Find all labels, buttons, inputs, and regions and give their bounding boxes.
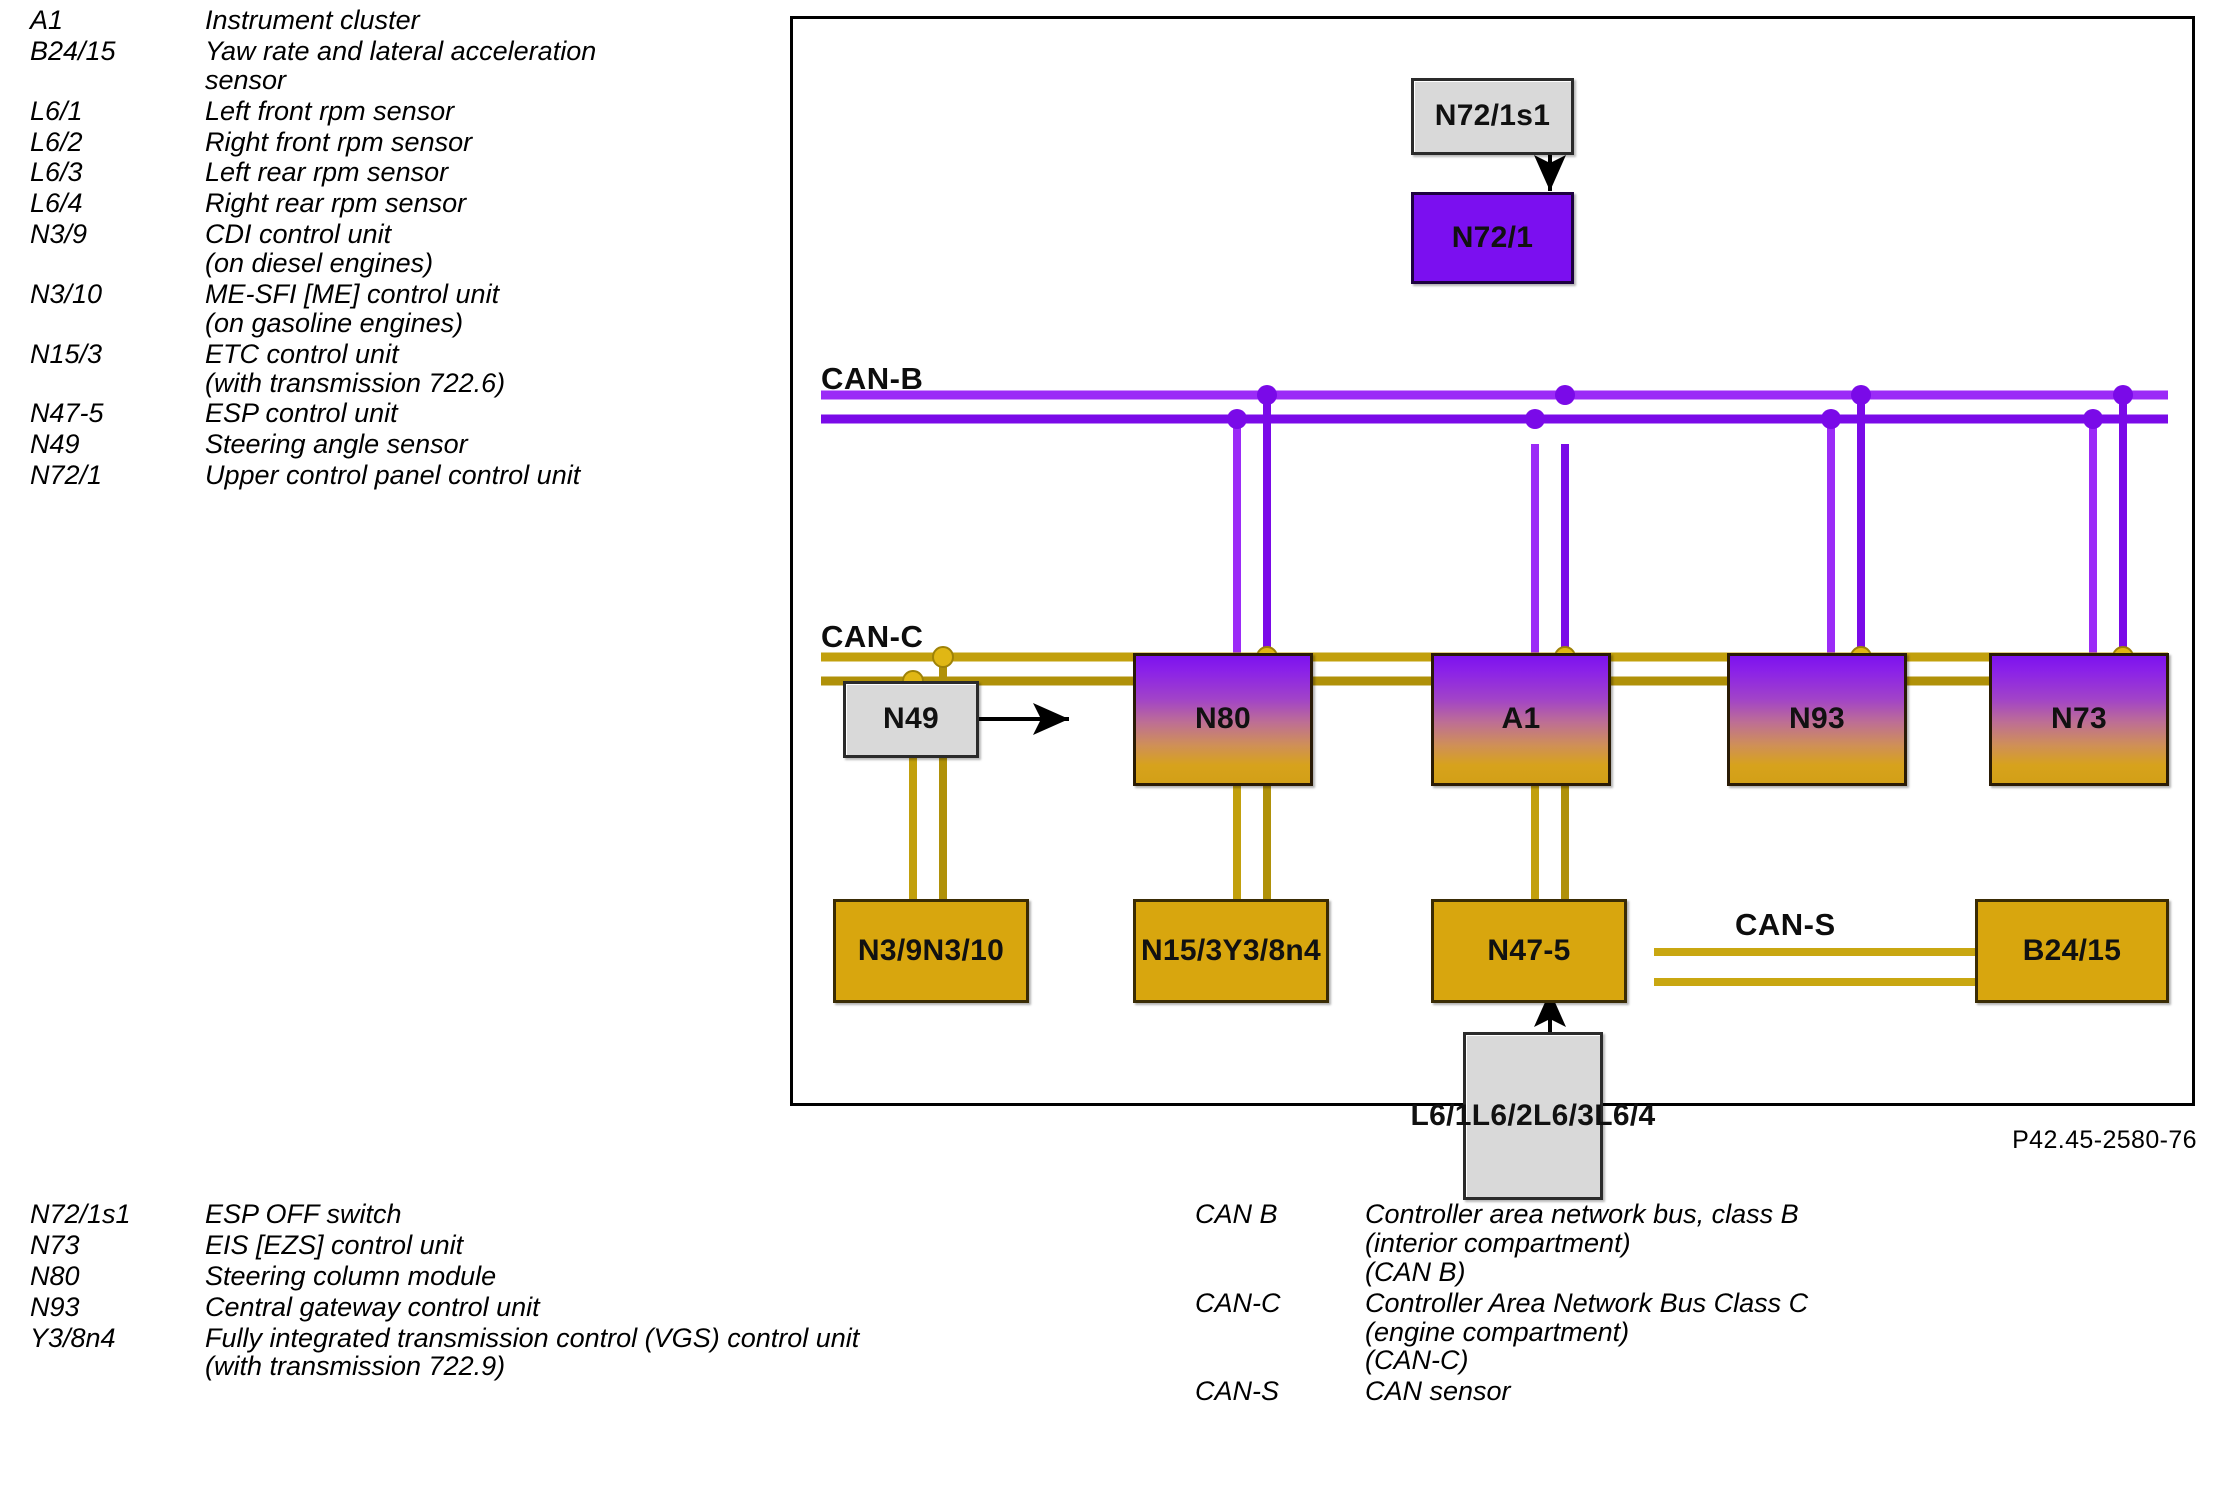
legend-description: Central gateway control unit [205, 1293, 1090, 1322]
bus-label-can-s: CAN-S [1735, 907, 1836, 943]
legend-bottom-right: CAN BController area network bus, class … [1195, 1200, 2215, 1408]
legend-row: CAN-SCAN sensor [1195, 1377, 2215, 1406]
legend-row: L6/4Right rear rpm sensor [30, 189, 750, 218]
legend-key: N49 [30, 430, 205, 459]
legend-row: N72/1Upper control panel control unit [30, 461, 750, 490]
legend-description: EIS [EZS] control unit [205, 1231, 1090, 1260]
legend-key: N47-5 [30, 399, 205, 428]
legend-key: N72/1 [30, 461, 205, 490]
bus-label-can-c: CAN-C [821, 619, 923, 655]
legend-row: L6/1Left front rpm sensor [30, 97, 750, 126]
legend-row: L6/2Right front rpm sensor [30, 128, 750, 157]
node-n49[interactable]: N49 [843, 681, 979, 758]
legend-key: L6/2 [30, 128, 205, 157]
legend-description: Steering column module [205, 1262, 1090, 1291]
legend-description: ESP OFF switch [205, 1200, 1090, 1229]
legend-description: Fully integrated transmission control (V… [205, 1324, 1090, 1382]
legend-key: N3/9 [30, 220, 205, 278]
legend-key: CAN-S [1195, 1377, 1365, 1406]
node-n47-5[interactable]: N47-5 [1431, 899, 1627, 1003]
legend-description: CDI control unit (on diesel engines) [205, 220, 750, 278]
legend-description: Yaw rate and lateral acceleration sensor [205, 37, 750, 95]
legend-description: Left front rpm sensor [205, 97, 750, 126]
legend-key: L6/3 [30, 158, 205, 187]
can-b-bus-lines [821, 395, 2168, 419]
legend-row: Y3/8n4Fully integrated transmission cont… [30, 1324, 1090, 1382]
legend-row: N93Central gateway control unit [30, 1293, 1090, 1322]
legend-description: Controller Area Network Bus Class C (eng… [1365, 1289, 2215, 1376]
legend-key: N93 [30, 1293, 205, 1322]
legend-row: CAN-CController Area Network Bus Class C… [1195, 1289, 2215, 1376]
legend-bottom-left: N72/1s1ESP OFF switchN73EIS [EZS] contro… [30, 1200, 1090, 1383]
legend-key: B24/15 [30, 37, 205, 95]
node-n3-9-n3-10[interactable]: N3/9N3/10 [833, 899, 1029, 1003]
legend-row: N15/3ETC control unit (with transmission… [30, 340, 750, 398]
legend-row: L6/3Left rear rpm sensor [30, 158, 750, 187]
legend-description: ETC control unit (with transmission 722.… [205, 340, 750, 398]
legend-key: L6/4 [30, 189, 205, 218]
legend-row: N47-5ESP control unit [30, 399, 750, 428]
legend-row: N3/10ME-SFI [ME] control unit (on gasoli… [30, 280, 750, 338]
legend-key: L6/1 [30, 97, 205, 126]
legend-key: A1 [30, 6, 205, 35]
legend-top-left: A1Instrument clusterB24/15Yaw rate and l… [30, 6, 750, 492]
legend-key: Y3/8n4 [30, 1324, 205, 1382]
legend-key: N80 [30, 1262, 205, 1291]
node-b24-15[interactable]: B24/15 [1975, 899, 2169, 1003]
node-n93[interactable]: N93 [1727, 653, 1907, 786]
legend-description: Instrument cluster [205, 6, 750, 35]
legend-row: A1Instrument cluster [30, 6, 750, 35]
can-s-bus-lines [1654, 952, 1975, 982]
node-l6-sensors[interactable]: L6/1L6/2L6/3L6/4 [1463, 1032, 1603, 1200]
legend-row: N3/9CDI control unit (on diesel engines) [30, 220, 750, 278]
legend-row: N72/1s1ESP OFF switch [30, 1200, 1090, 1229]
legend-key: N15/3 [30, 340, 205, 398]
node-n72-1s1[interactable]: N72/1s1 [1411, 78, 1574, 155]
legend-row: N49Steering angle sensor [30, 430, 750, 459]
legend-description: Controller area network bus, class B (in… [1365, 1200, 2215, 1287]
legend-description: Upper control panel control unit [205, 461, 750, 490]
legend-row: N73EIS [EZS] control unit [30, 1231, 1090, 1260]
node-n73[interactable]: N73 [1989, 653, 2169, 786]
legend-description: Right front rpm sensor [205, 128, 750, 157]
node-n15-3-y3-8n4[interactable]: N15/3Y3/8n4 [1133, 899, 1329, 1003]
legend-description: ME-SFI [ME] control unit (on gasoline en… [205, 280, 750, 338]
legend-description: ESP control unit [205, 399, 750, 428]
legend-description: Left rear rpm sensor [205, 158, 750, 187]
node-a1[interactable]: A1 [1431, 653, 1611, 786]
legend-row: CAN BController area network bus, class … [1195, 1200, 2215, 1287]
figure-reference: P42.45-2580-76 [2012, 1126, 2197, 1155]
legend-description: CAN sensor [1365, 1377, 2215, 1406]
legend-key: CAN B [1195, 1200, 1365, 1287]
node-n72-1[interactable]: N72/1 [1411, 192, 1574, 284]
diagram-frame: CAN-B CAN-C CAN-S N72/1s1 N72/1 N49 N80 … [790, 16, 2195, 1106]
legend-key: CAN-C [1195, 1289, 1365, 1376]
bus-label-can-b: CAN-B [821, 361, 923, 397]
legend-description: Right rear rpm sensor [205, 189, 750, 218]
node-n80[interactable]: N80 [1133, 653, 1313, 786]
legend-key: N73 [30, 1231, 205, 1260]
legend-row: B24/15Yaw rate and lateral acceleration … [30, 37, 750, 95]
can-b-drop-wires [1237, 395, 2123, 653]
legend-description: Steering angle sensor [205, 430, 750, 459]
legend-key: N3/10 [30, 280, 205, 338]
legend-row: N80Steering column module [30, 1262, 1090, 1291]
legend-key: N72/1s1 [30, 1200, 205, 1229]
